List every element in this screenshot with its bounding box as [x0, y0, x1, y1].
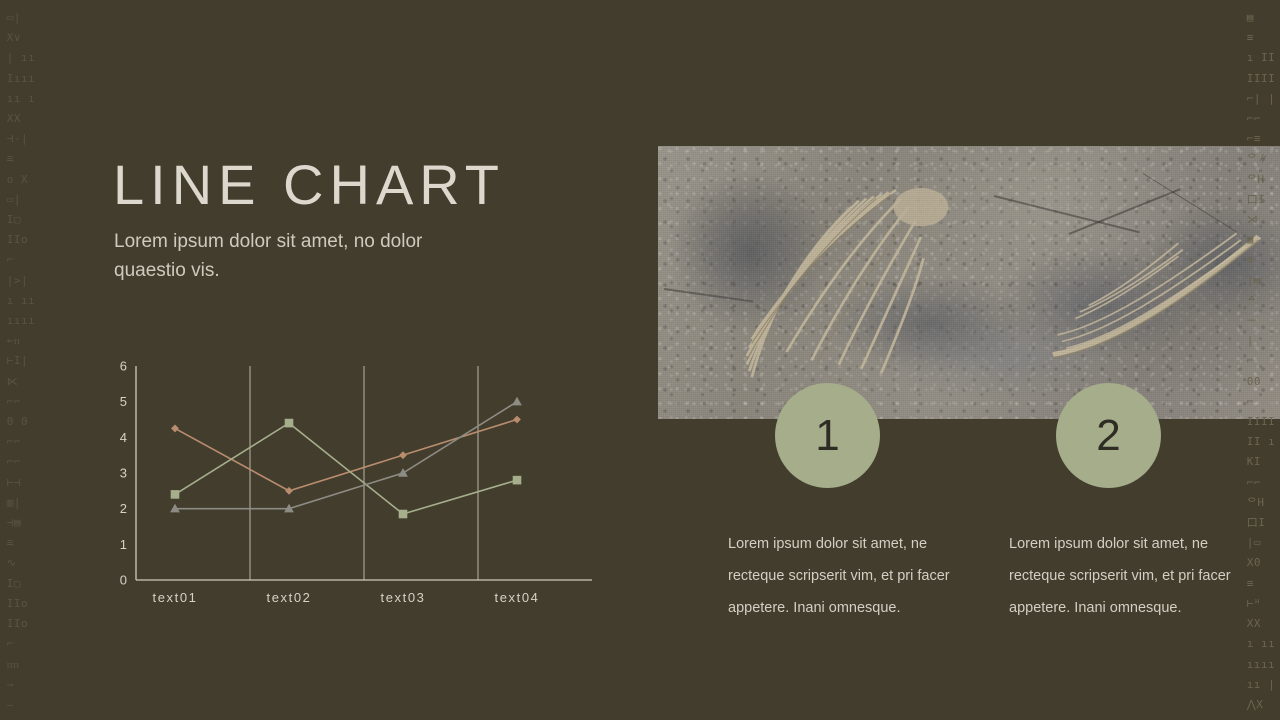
chart-marker-s2-p3 — [399, 510, 408, 519]
page-title: LINE CHART — [113, 152, 505, 217]
chart-marker-s1-p3 — [399, 451, 407, 459]
chart-x-axis-labels: text01text02text03text04 — [152, 590, 539, 605]
body-text-2: Lorem ipsum dolor sit amet, ne recteque … — [1009, 528, 1249, 624]
chart-marker-s1-p4 — [513, 416, 521, 424]
number-badge-2-label: 2 — [1096, 411, 1120, 461]
fossil-stem-arms — [1044, 217, 1268, 381]
slide-canvas: ▭| X∨ | ıı Iııı ıı ı XX ⊣-| ≡ o X ▭| I▢ … — [0, 0, 1280, 720]
number-badge-1: 1 — [775, 383, 880, 488]
chart-line-2 — [175, 423, 517, 514]
chart-y-tick-5: 5 — [120, 394, 127, 409]
body-text-1: Lorem ipsum dolor sit amet, ne recteque … — [728, 528, 968, 624]
left-glyph-column: ▭| X∨ | ıı Iııı ıı ı XX ⊣-| ≡ o X ▭| I▢ … — [7, 8, 36, 720]
chart-marker-s1-p1 — [171, 425, 179, 433]
chart-x-tick-2: text02 — [266, 590, 311, 605]
chart-y-tick-0: 0 — [120, 573, 127, 588]
chart-line-3 — [175, 402, 517, 509]
right-decorative-glyph-strip: ▤ ≡ ı II IIII ⌐| | ⌐⌐ ⌐≡ ᄋ∥ ᄋH 口I ⋊ ▦ ⊕ … — [1244, 0, 1278, 720]
number-badge-2: 2 — [1056, 383, 1161, 488]
chart-y-tick-2: 2 — [120, 501, 127, 516]
line-chart: 0123456 text01text02text03text04 — [100, 355, 600, 610]
chart-gridlines — [250, 366, 478, 580]
page-subtitle: Lorem ipsum dolor sit amet, no dolor qua… — [114, 227, 454, 285]
chart-marker-s3-p3 — [398, 468, 408, 477]
fossil-calyx-arms — [702, 173, 951, 386]
chart-marker-s3-p4 — [512, 397, 522, 406]
line-chart-svg: 0123456 text01text02text03text04 — [100, 355, 600, 610]
chart-x-tick-3: text03 — [380, 590, 425, 605]
chart-y-tick-1: 1 — [120, 537, 127, 552]
chart-x-tick-4: text04 — [494, 590, 539, 605]
chart-marker-s2-p4 — [513, 476, 522, 485]
number-badge-1-label: 1 — [815, 411, 839, 461]
chart-series-group — [170, 397, 522, 519]
chart-y-tick-4: 4 — [120, 430, 127, 445]
fossil-photo — [658, 146, 1280, 419]
chart-x-tick-1: text01 — [152, 590, 197, 605]
chart-series-2 — [171, 419, 522, 519]
right-glyph-column: ▤ ≡ ı II IIII ⌐| | ⌐⌐ ⌐≡ ᄋ∥ ᄋH 口I ⋊ ▦ ⊕ … — [1247, 8, 1276, 720]
chart-y-tick-6: 6 — [120, 359, 127, 374]
chart-marker-s2-p1 — [171, 490, 180, 499]
chart-series-1 — [171, 416, 521, 495]
left-decorative-glyph-strip: ▭| X∨ | ıı Iııı ıı ı XX ⊣-| ≡ o X ▭| I▢ … — [4, 0, 38, 720]
chart-y-axis-labels: 0123456 — [120, 359, 127, 588]
chart-y-tick-3: 3 — [120, 466, 127, 481]
chart-marker-s1-p2 — [285, 487, 293, 495]
chart-marker-s2-p2 — [285, 419, 294, 428]
chart-line-1 — [175, 420, 517, 491]
